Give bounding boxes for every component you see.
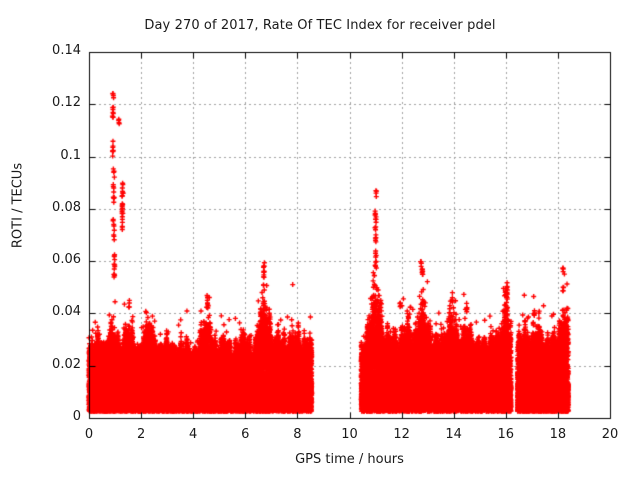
y-tick-label: 0.06: [52, 252, 81, 267]
scatter-plot-canvas: [0, 0, 640, 480]
y-tick-label: 0.12: [52, 95, 81, 110]
x-axis-label: GPS time / hours: [89, 452, 610, 467]
x-tick-label: 20: [585, 427, 635, 442]
y-tick-label: 0.02: [52, 357, 81, 372]
x-tick-label: 14: [429, 427, 479, 442]
y-tick-label: 0.14: [52, 43, 81, 58]
chart-root: Day 270 of 2017, Rate Of TEC Index for r…: [0, 0, 640, 480]
x-tick-label: 8: [272, 427, 322, 442]
x-tick-label: 12: [377, 427, 427, 442]
y-tick-label: 0.1: [60, 148, 81, 163]
y-tick-label: 0: [73, 409, 81, 424]
x-tick-label: 16: [481, 427, 531, 442]
x-tick-label: 18: [533, 427, 583, 442]
x-tick-label: 0: [64, 427, 114, 442]
x-tick-label: 6: [220, 427, 270, 442]
y-tick-label: 0.08: [52, 200, 81, 215]
x-tick-label: 10: [325, 427, 375, 442]
x-tick-label: 4: [168, 427, 218, 442]
x-tick-label: 2: [116, 427, 166, 442]
y-tick-label: 0.04: [52, 304, 81, 319]
